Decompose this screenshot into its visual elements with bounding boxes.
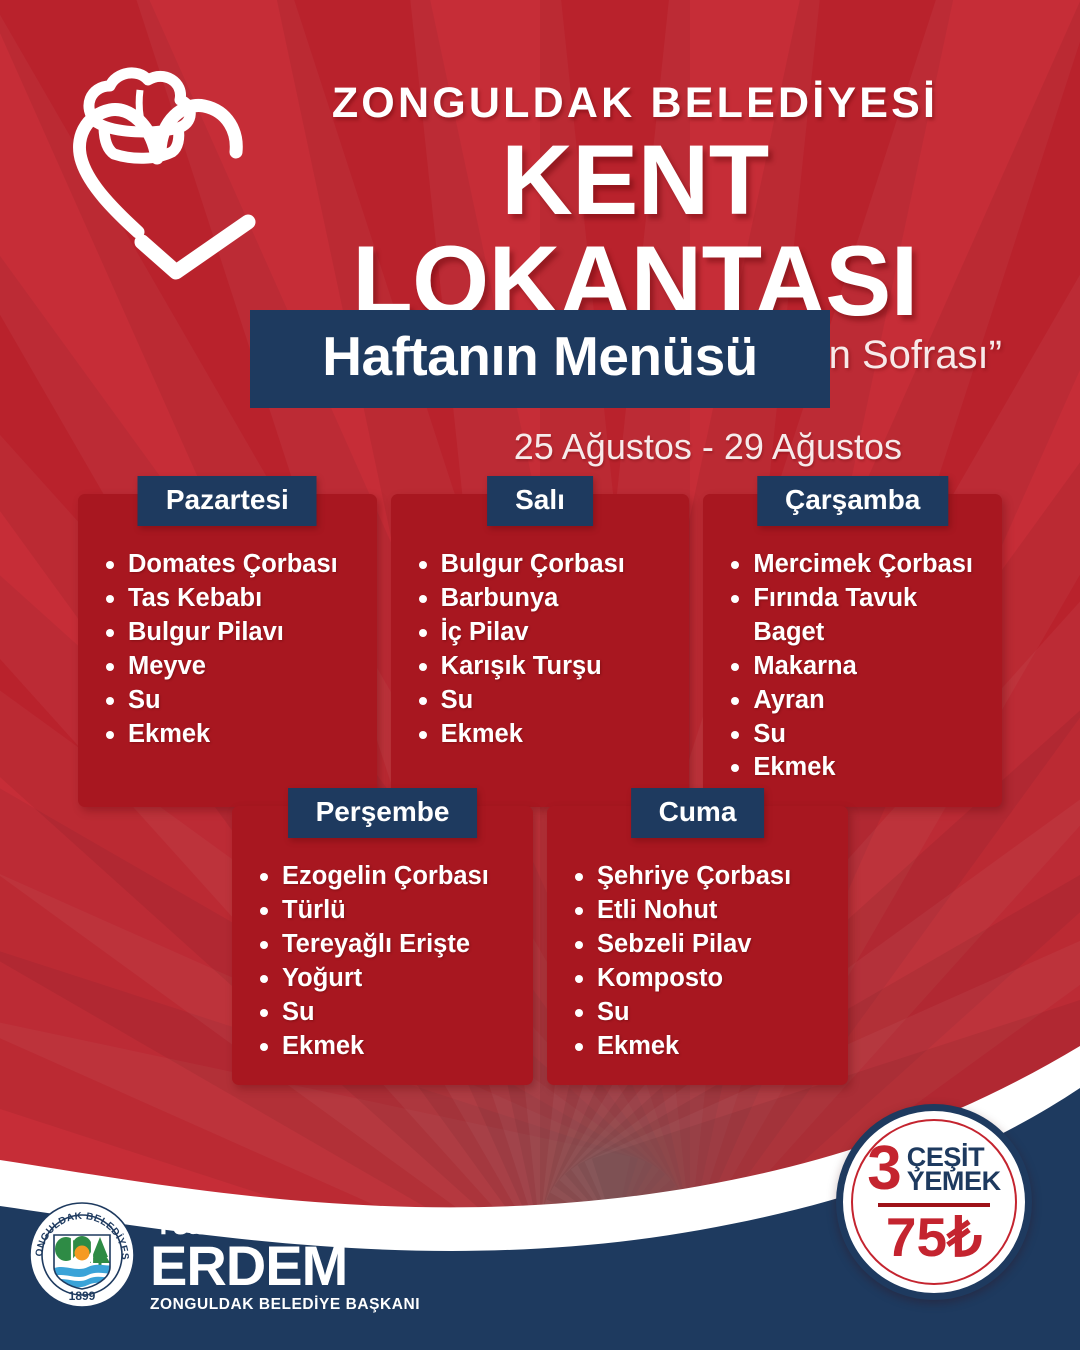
day-card-sal: SalıBulgur ÇorbasıBarbunyaİç PilavKarışı… xyxy=(391,494,690,807)
header: ZONGULDAK BELEDİYESİ KENT LOKANTASI “Hal… xyxy=(0,0,1080,300)
dish-item: Ezogelin Çorbası xyxy=(282,860,519,894)
dish-item: Bulgur Pilavı xyxy=(128,616,363,650)
title-section: Haftanın Menüsü 25 Ağustos - 29 Ağustos xyxy=(0,310,1080,468)
dish-item: Ekmek xyxy=(282,1030,519,1064)
dish-item: Su xyxy=(597,996,834,1030)
brand-wordmark: KENT LOKANTASI xyxy=(250,130,1020,332)
mayor-name-block: Tahsin ERDEM ZONGULDAK BELEDİYE BAŞKANI xyxy=(150,1198,420,1313)
badge-divider xyxy=(878,1203,990,1207)
dish-item: Tereyağlı Erişte xyxy=(282,928,519,962)
mayor-role: ZONGULDAK BELEDİYE BAŞKANI xyxy=(150,1297,420,1313)
dish-item: Makarna xyxy=(753,650,988,684)
dish-item: Komposto xyxy=(597,962,834,996)
badge-headline: 3 ÇEŞİT YEMEK xyxy=(867,1143,1001,1196)
badge-word-variety: ÇEŞİT xyxy=(907,1145,985,1170)
dish-item: Meyve xyxy=(128,650,363,684)
chef-hat-heart-check-icon xyxy=(52,62,262,282)
menu-grid-row-top: PazartesiDomates ÇorbasıTas KebabıBulgur… xyxy=(78,494,1002,807)
dish-list: Şehriye ÇorbasıEtli NohutSebzeli PilavKo… xyxy=(561,860,834,1063)
day-label: Çarşamba xyxy=(757,476,948,526)
day-card-perembe: PerşembeEzogelin ÇorbasıTürlüTereyağlı E… xyxy=(232,806,533,1085)
day-card-aramba: ÇarşambaMercimek ÇorbasıFırında TavukBag… xyxy=(703,494,1002,807)
poster-canvas: ZONGULDAK BELEDİYESİ KENT LOKANTASI “Hal… xyxy=(0,0,1080,1350)
dish-item: Domates Çorbası xyxy=(128,548,363,582)
badge-word-meal: YEMEK xyxy=(907,1169,1001,1194)
badge-price-value: 75₺ xyxy=(886,1211,982,1263)
dish-item: Türlü xyxy=(282,894,519,928)
dish-item: Sebzeli Pilav xyxy=(597,928,834,962)
dish-list: Bulgur ÇorbasıBarbunyaİç PilavKarışık Tu… xyxy=(405,548,676,751)
dish-list: Domates ÇorbasıTas KebabıBulgur PilavıMe… xyxy=(92,548,363,751)
mayor-logo-lockup: ZONGULDAK BELEDİYESİ xyxy=(28,1198,420,1313)
dish-item: Su xyxy=(753,718,988,752)
dish-item: Su xyxy=(282,996,519,1030)
dish-item: Barbunya xyxy=(441,582,676,616)
day-label: Cuma xyxy=(631,788,765,838)
dish-item: Mercimek Çorbası xyxy=(753,548,988,582)
dish-item: Ekmek xyxy=(597,1030,834,1064)
date-range: 25 Ağustos - 29 Ağustos xyxy=(0,426,902,468)
price-badge: 3 ÇEŞİT YEMEK 75₺ xyxy=(836,1104,1032,1300)
badge-dish-count: 3 xyxy=(867,1143,901,1196)
dish-item: Etli Nohut xyxy=(597,894,834,928)
dish-item: Şehriye Çorbası xyxy=(597,860,834,894)
day-card-cuma: CumaŞehriye ÇorbasıEtli NohutSebzeli Pil… xyxy=(547,806,848,1085)
svg-text:1899: 1899 xyxy=(69,1289,96,1303)
dish-item: Karışık Turşu xyxy=(441,650,676,684)
menu-grid-row-bottom: PerşembeEzogelin ÇorbasıTürlüTereyağlı E… xyxy=(232,806,848,1085)
dish-item: Ekmek xyxy=(128,718,363,752)
day-label: Perşembe xyxy=(288,788,478,838)
dish-item: Yoğurt xyxy=(282,962,519,996)
dish-item: İç Pilav xyxy=(441,616,676,650)
dish-item: Ayran xyxy=(753,684,988,718)
dish-item: Ekmek xyxy=(441,718,676,752)
dish-list: Mercimek ÇorbasıFırında TavukBagetMakarn… xyxy=(717,548,988,785)
dish-item: Baget xyxy=(753,616,988,650)
dish-list: Ezogelin ÇorbasıTürlüTereyağlı ErişteYoğ… xyxy=(246,860,519,1063)
page-title: Haftanın Menüsü xyxy=(250,310,830,408)
dish-item: Fırında Tavuk xyxy=(753,582,988,616)
day-label: Salı xyxy=(487,476,593,526)
dish-item: Su xyxy=(441,684,676,718)
mayor-last-name: ERDEM xyxy=(150,1238,420,1294)
dish-item: Bulgur Çorbası xyxy=(441,548,676,582)
badge-words: ÇEŞİT YEMEK xyxy=(907,1145,1001,1195)
dish-item: Tas Kebabı xyxy=(128,582,363,616)
dish-item: Ekmek xyxy=(753,751,988,785)
zonguldak-municipality-emblem-icon: ZONGULDAK BELEDİYESİ xyxy=(28,1201,136,1309)
dish-item: Su xyxy=(128,684,363,718)
day-label: Pazartesi xyxy=(138,476,317,526)
municipality-kicker: ZONGULDAK BELEDİYESİ xyxy=(250,82,1020,125)
day-card-pazartesi: PazartesiDomates ÇorbasıTas KebabıBulgur… xyxy=(78,494,377,807)
